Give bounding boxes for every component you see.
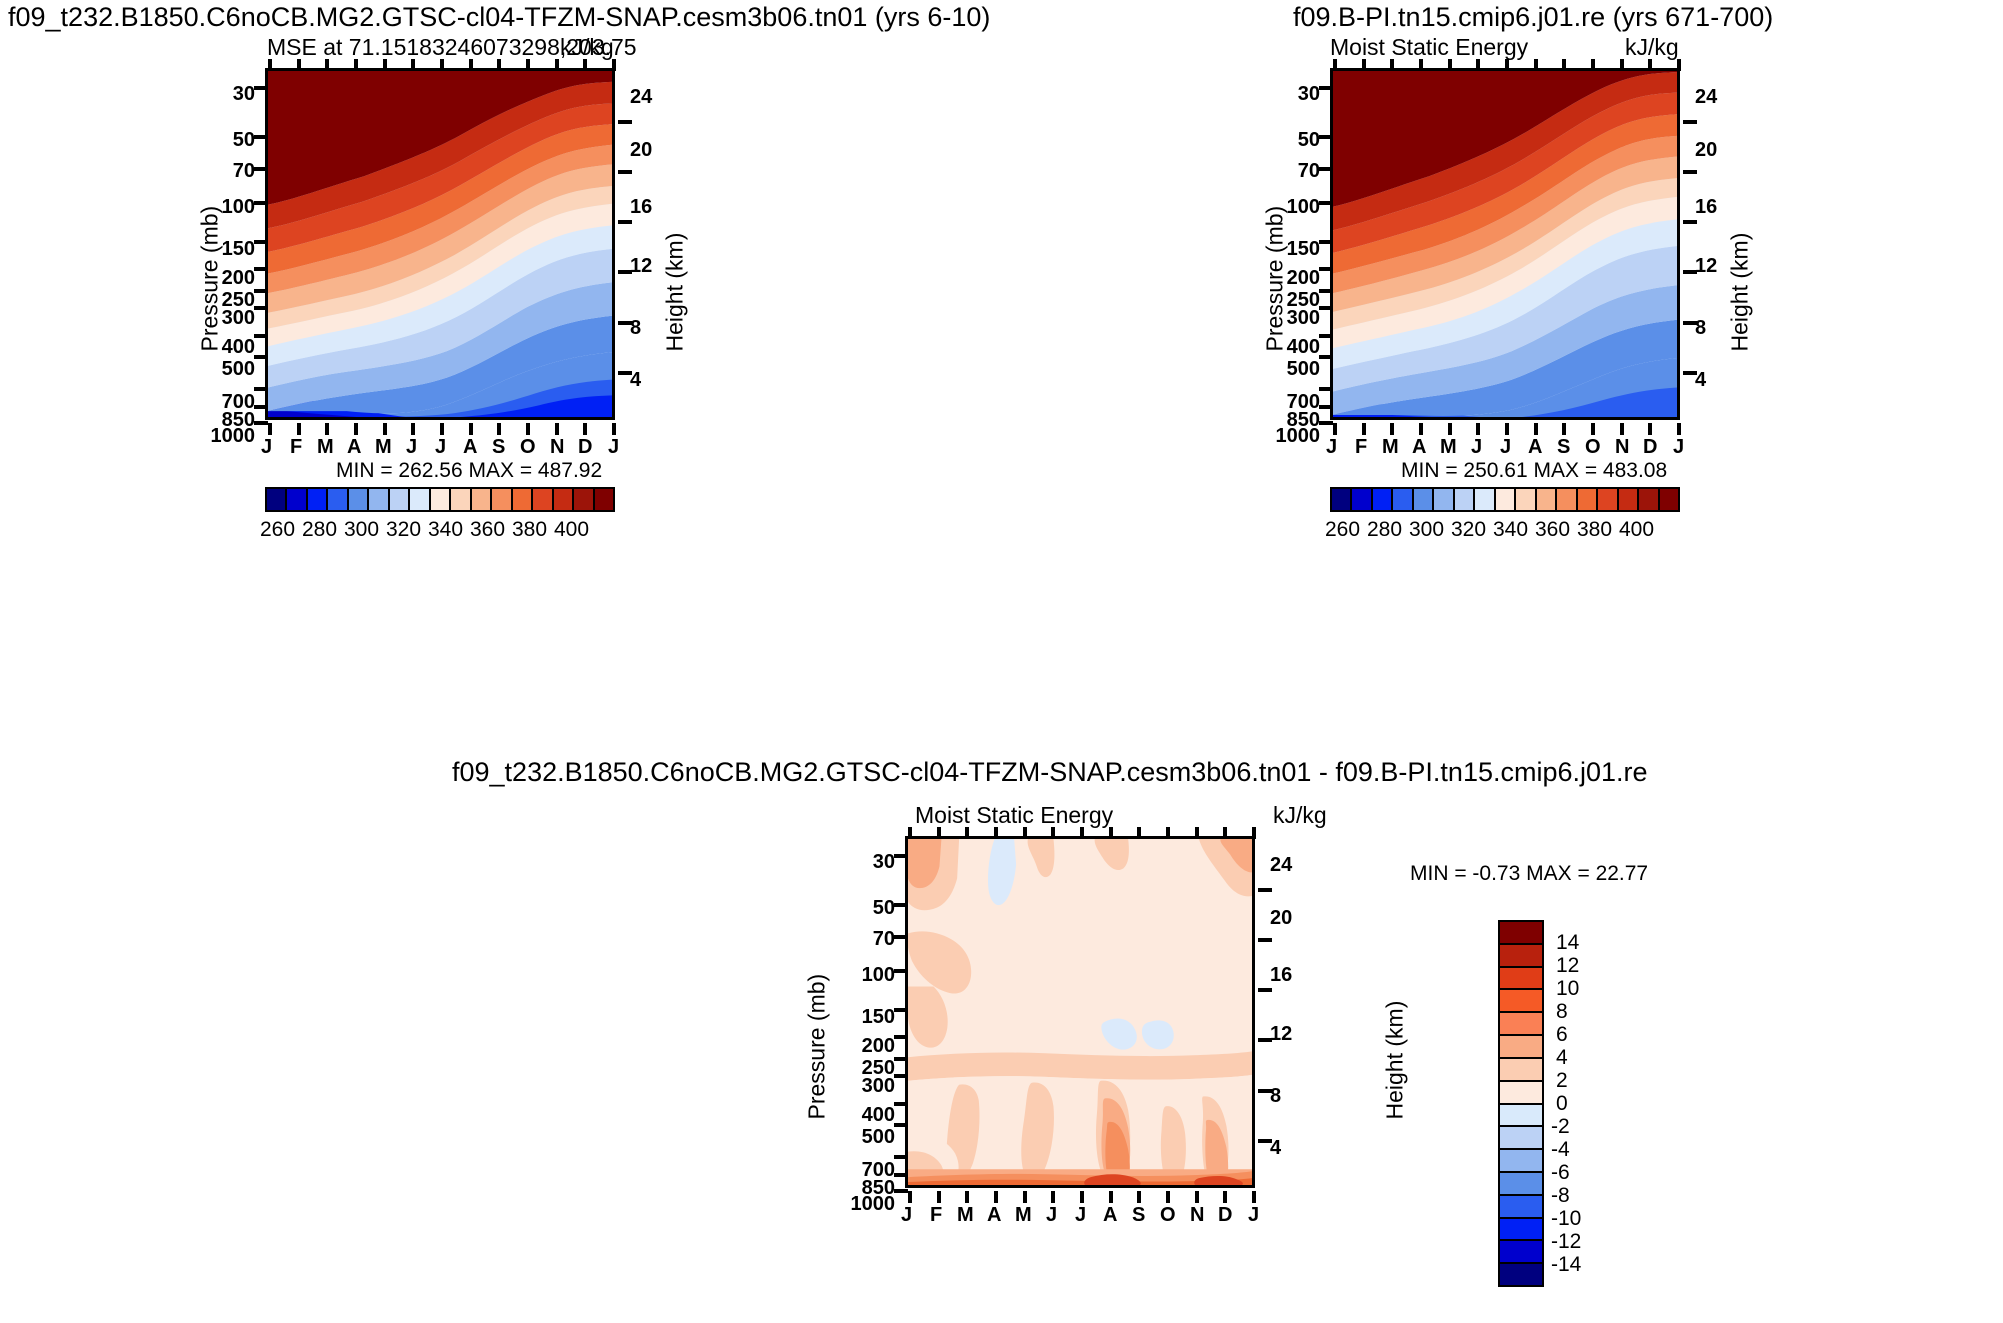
colorbar-swatch [1332, 489, 1352, 510]
axis-tick-top [1080, 827, 1084, 839]
axis-tick-bottom [1562, 423, 1566, 435]
right-panel-y2tick-12: 12 [1695, 255, 1717, 278]
right-panel-ytick-400: 400 [1265, 336, 1320, 359]
axis-tick-left [1319, 334, 1333, 338]
diff-panel-minmax: MIN = -0.73 MAX = 22.77 [1410, 862, 1648, 886]
axis-tick-bottom [583, 423, 587, 435]
diff-panel-xtick-5: J [1046, 1204, 1057, 1227]
right-panel-y2tick-20: 20 [1695, 139, 1717, 162]
diff-panel-xtick-10: N [1190, 1204, 1204, 1227]
diff-panel-xtick-9: O [1160, 1204, 1176, 1227]
colorbar-swatch [1414, 489, 1434, 510]
axis-tick-bottom [1080, 1191, 1084, 1203]
axis-tick-top [1023, 827, 1027, 839]
right-panel-cbar-label-280: 280 [1367, 518, 1402, 542]
diff-panel-ytick-50: 50 [840, 897, 895, 920]
axis-tick-bottom [555, 423, 559, 435]
left-panel-xtick-8: S [492, 436, 505, 459]
colorbar-swatch [1619, 489, 1639, 510]
axis-tick-bottom [354, 423, 358, 435]
axis-tick-bottom [297, 423, 301, 435]
right-panel-xtick-7: A [1528, 436, 1542, 459]
axis-tick-left [1319, 355, 1333, 359]
right-panel-xtick-5: J [1471, 436, 1482, 459]
left-panel-y2tick-4: 4 [630, 369, 641, 392]
diff-cbar-label-m4: -4 [1551, 1138, 1570, 1162]
axis-tick-top [526, 59, 530, 71]
right-panel-minmax: MIN = 250.61 MAX = 483.08 [1401, 459, 1667, 483]
left-panel-ytick-70: 70 [200, 160, 255, 183]
right-panel-ytick-150: 150 [1265, 238, 1320, 261]
right-panel-units: kJ/kg [1625, 34, 1679, 61]
axis-tick-left [1319, 135, 1333, 139]
right-panel-ytick-1000: 1000 [1255, 425, 1320, 448]
colorbar-swatch [1500, 1059, 1542, 1082]
axis-tick-top [297, 59, 301, 71]
axis-tick-bottom [1166, 1191, 1170, 1203]
diff-panel-xtick-6: J [1075, 1204, 1086, 1227]
axis-tick-bottom [994, 1191, 998, 1203]
axis-tick-top [1677, 59, 1681, 71]
axis-tick-left [1319, 405, 1333, 409]
left-panel-ytick-30: 30 [200, 83, 255, 106]
axis-tick-left [254, 334, 268, 338]
left-panel-xtick-5: J [406, 436, 417, 459]
axis-tick-left [894, 969, 908, 973]
right-panel-xtick-12: J [1673, 436, 1684, 459]
axis-tick-bottom [1023, 1191, 1027, 1203]
diff-cbar-label-m6: -6 [1551, 1161, 1570, 1185]
left-panel-xtick-6: J [435, 436, 446, 459]
axis-tick-right [1683, 220, 1697, 224]
right-panel-cbar-label-260: 260 [1325, 518, 1360, 542]
colorbar-swatch [369, 489, 389, 510]
diff-cbar-label-12: 12 [1556, 954, 1579, 978]
diff-cbar-label-m14: -14 [1551, 1253, 1581, 1277]
right-panel-xtick-8: S [1557, 436, 1570, 459]
colorbar-swatch [533, 489, 553, 510]
axis-tick-left [1319, 201, 1333, 205]
left-panel-cbar-label-400: 400 [554, 518, 589, 542]
colorbar-swatch [431, 489, 451, 510]
axis-tick-left [894, 1057, 908, 1061]
axis-tick-left [894, 1035, 908, 1039]
axis-tick-top [1333, 59, 1337, 71]
colorbar-swatch [1352, 489, 1372, 510]
right-panel-xtick-0: J [1326, 436, 1337, 459]
axis-tick-left [894, 1173, 908, 1177]
axis-tick-bottom [1419, 423, 1423, 435]
left-panel-xtick-1: F [290, 436, 302, 459]
axis-tick-left [254, 201, 268, 205]
left-panel-xtick-10: N [550, 436, 564, 459]
axis-tick-bottom [1390, 423, 1394, 435]
axis-tick-left [894, 1155, 908, 1159]
axis-tick-top [1419, 59, 1423, 71]
colorbar-swatch [1500, 1264, 1542, 1285]
axis-tick-top [1223, 827, 1227, 839]
colorbar-swatch [513, 489, 533, 510]
diff-panel-ytick-200: 200 [840, 1035, 895, 1058]
diff-cbar-label-14: 14 [1556, 931, 1579, 955]
colorbar-swatch [1500, 1127, 1542, 1150]
diff-panel-case-title: f09_t232.B1850.C6noCB.MG2.GTSC-cl04-TFZM… [452, 757, 1648, 788]
right-panel-y2tick-4: 4 [1695, 369, 1706, 392]
axis-tick-top [268, 59, 272, 71]
axis-tick-left [254, 421, 268, 425]
axis-tick-bottom [1448, 423, 1452, 435]
axis-tick-right [618, 120, 632, 124]
axis-tick-top [325, 59, 329, 71]
axis-tick-left [894, 1008, 908, 1012]
axis-tick-top [469, 59, 473, 71]
axis-tick-bottom [411, 423, 415, 435]
axis-tick-top [1166, 827, 1170, 839]
right-panel-y2tick-8: 8 [1695, 317, 1706, 340]
axis-tick-left [254, 240, 268, 244]
left-panel-ytick-200: 200 [200, 267, 255, 290]
axis-tick-left [254, 135, 268, 139]
left-panel-ytick-500: 500 [200, 358, 255, 381]
colorbar-swatch [1598, 489, 1618, 510]
axis-tick-top [994, 827, 998, 839]
right-panel-ytick-50: 50 [1265, 129, 1320, 152]
right-panel-y2tick-16: 16 [1695, 196, 1717, 219]
left-panel-xtick-9: O [520, 436, 536, 459]
axis-tick-left [894, 903, 908, 907]
left-panel-ytick-300: 300 [200, 307, 255, 330]
left-panel-cbar-label-300: 300 [344, 518, 379, 542]
axis-tick-top [1137, 827, 1141, 839]
left-panel-y2tick-16: 16 [630, 196, 652, 219]
axis-tick-bottom [268, 423, 272, 435]
diff-cbar-label-m8: -8 [1551, 1184, 1570, 1208]
left-panel-cbar-label-340: 340 [428, 518, 463, 542]
colorbar-swatch [1639, 489, 1659, 510]
axis-tick-right [1683, 170, 1697, 174]
right-panel-y2-axis-title: Height (km) [1727, 152, 1754, 352]
axis-tick-top [1476, 59, 1480, 71]
left-panel-cbar-label-380: 380 [512, 518, 547, 542]
axis-tick-bottom [908, 1191, 912, 1203]
diff-cbar-label-m10: -10 [1551, 1207, 1581, 1231]
axis-tick-top [1620, 59, 1624, 71]
left-panel-ytick-1000: 1000 [190, 425, 255, 448]
axis-tick-top [354, 59, 358, 71]
colorbar-swatch [1475, 489, 1495, 510]
diff-panel-ytick-100: 100 [840, 964, 895, 987]
axis-tick-top [1051, 827, 1055, 839]
axis-tick-left [894, 1074, 908, 1078]
diff-panel-y2tick-12: 12 [1270, 1023, 1292, 1046]
axis-tick-top [583, 59, 587, 71]
axis-tick-left [254, 167, 268, 171]
right-panel-ytick-200: 200 [1265, 267, 1320, 290]
axis-tick-bottom [1534, 423, 1538, 435]
diff-panel-ytick-30: 30 [840, 851, 895, 874]
diff-panel-y2tick-16: 16 [1270, 964, 1292, 987]
axis-tick-right [1258, 938, 1272, 942]
axis-tick-right [618, 170, 632, 174]
diff-panel-ytick-70: 70 [840, 928, 895, 951]
right-panel-cbar-label-360: 360 [1535, 518, 1570, 542]
colorbar-swatch [1500, 1036, 1542, 1059]
colorbar-swatch [574, 489, 594, 510]
right-panel-ytick-100: 100 [1265, 196, 1320, 219]
diff-panel-y2tick-20: 20 [1270, 907, 1292, 930]
axis-tick-bottom [1195, 1191, 1199, 1203]
axis-tick-left [894, 1123, 908, 1127]
diff-panel-y-axis-title: Pressure (mb) [804, 920, 831, 1120]
left-panel-y2tick-24: 24 [630, 86, 652, 109]
axis-tick-top [1448, 59, 1452, 71]
diff-cbar-label-m2: -2 [1551, 1115, 1570, 1139]
left-panel-minmax: MIN = 262.56 MAX = 487.92 [336, 459, 602, 483]
axis-tick-bottom [1505, 423, 1509, 435]
axis-tick-top [1534, 59, 1538, 71]
axis-tick-bottom [1109, 1191, 1113, 1203]
axis-tick-top [497, 59, 501, 71]
right-panel-cbar-label-400: 400 [1619, 518, 1654, 542]
colorbar-swatch [1537, 489, 1557, 510]
axis-tick-bottom [1223, 1191, 1227, 1203]
diff-panel-ytick-500: 500 [840, 1126, 895, 1149]
left-panel-units: kJ/kg [560, 34, 614, 61]
axis-tick-top [1362, 59, 1366, 71]
axis-tick-left [1319, 421, 1333, 425]
axis-tick-top [1562, 59, 1566, 71]
axis-tick-top [965, 827, 969, 839]
left-panel-ytick-50: 50 [200, 129, 255, 152]
colorbar-swatch [1500, 1105, 1542, 1128]
colorbar-swatch [1500, 990, 1542, 1013]
axis-tick-left [894, 1102, 908, 1106]
right-panel-ytick-500: 500 [1265, 358, 1320, 381]
right-panel-xtick-11: D [1643, 436, 1657, 459]
axis-tick-left [254, 387, 268, 391]
colorbar-swatch [1500, 1082, 1542, 1105]
left-panel-ytick-400: 400 [200, 336, 255, 359]
axis-tick-left [894, 854, 908, 858]
left-panel-xtick-7: A [463, 436, 477, 459]
axis-tick-top [383, 59, 387, 71]
axis-tick-top [937, 827, 941, 839]
axis-tick-left [894, 935, 908, 939]
colorbar-swatch [1500, 1150, 1542, 1173]
diff-panel-xtick-2: M [957, 1204, 974, 1227]
axis-tick-left [1319, 387, 1333, 391]
diff-cbar-label-8: 8 [1556, 1000, 1568, 1024]
axis-tick-bottom [1051, 1191, 1055, 1203]
axis-tick-top [411, 59, 415, 71]
colorbar-swatch [328, 489, 348, 510]
right-panel-xtick-2: M [1382, 436, 1399, 459]
colorbar-swatch [308, 489, 328, 510]
axis-tick-bottom [497, 423, 501, 435]
right-panel-subtitle: Moist Static Energy [1330, 34, 1528, 61]
diff-panel-y2tick-8: 8 [1270, 1085, 1281, 1108]
right-panel-cbar-label-300: 300 [1409, 518, 1444, 542]
colorbar-swatch [287, 489, 307, 510]
right-panel-plot-area [1330, 68, 1680, 420]
right-panel-colorbar [1330, 487, 1680, 512]
colorbar-swatch [1500, 945, 1542, 968]
diff-panel-y2-axis-title: Height (km) [1382, 920, 1409, 1120]
colorbar-swatch [1516, 489, 1536, 510]
left-panel-cbar-label-280: 280 [302, 518, 337, 542]
colorbar-swatch [1500, 1013, 1542, 1036]
colorbar-swatch [1500, 1219, 1542, 1242]
diff-panel-xtick-0: J [901, 1204, 912, 1227]
axis-tick-bottom [325, 423, 329, 435]
right-panel-case-title: f09.B-PI.tn15.cmip6.j01.re (yrs 671-700) [1293, 2, 1773, 33]
diff-panel-ytick-400: 400 [840, 1104, 895, 1127]
right-panel-xtick-9: O [1585, 436, 1601, 459]
diff-panel-xtick-1: F [930, 1204, 942, 1227]
left-panel-xtick-2: M [317, 436, 334, 459]
colorbar-swatch [1373, 489, 1393, 510]
axis-tick-top [1591, 59, 1595, 71]
axis-tick-bottom [1648, 423, 1652, 435]
right-panel-cbar-label-380: 380 [1577, 518, 1612, 542]
colorbar-swatch [1500, 1196, 1542, 1219]
colorbar-swatch [554, 489, 574, 510]
left-panel-y2tick-12: 12 [630, 255, 652, 278]
axis-tick-right [1683, 120, 1697, 124]
colorbar-swatch [1660, 489, 1678, 510]
axis-tick-left [254, 355, 268, 359]
diff-panel-colorbar [1498, 920, 1544, 1287]
diff-panel-y2tick-24: 24 [1270, 854, 1292, 877]
left-panel-cbar-label-320: 320 [386, 518, 421, 542]
right-panel-ytick-300: 300 [1265, 307, 1320, 330]
axis-tick-left [1319, 267, 1333, 271]
diff-panel-y2tick-4: 4 [1270, 1137, 1281, 1160]
colorbar-swatch [1500, 968, 1542, 991]
right-panel-ytick-30: 30 [1265, 83, 1320, 106]
colorbar-swatch [1393, 489, 1413, 510]
colorbar-swatch [1455, 489, 1475, 510]
left-panel-colorbar [265, 487, 615, 512]
axis-tick-top [1109, 827, 1113, 839]
axis-tick-bottom [383, 423, 387, 435]
axis-tick-bottom [937, 1191, 941, 1203]
left-panel-ytick-150: 150 [200, 238, 255, 261]
colorbar-swatch [1500, 1173, 1542, 1196]
axis-tick-bottom [1333, 423, 1337, 435]
diff-cbar-label-10: 10 [1556, 977, 1579, 1001]
axis-tick-left [254, 289, 268, 293]
diff-panel-plot-area [905, 836, 1255, 1188]
left-panel-y2tick-20: 20 [630, 139, 652, 162]
axis-tick-bottom [1476, 423, 1480, 435]
diff-panel-xtick-4: M [1015, 1204, 1032, 1227]
axis-tick-top [1390, 59, 1394, 71]
diff-panel-subtitle: Moist Static Energy [915, 802, 1113, 829]
right-panel-xtick-1: F [1355, 436, 1367, 459]
axis-tick-top [1195, 827, 1199, 839]
axis-tick-left [254, 86, 268, 90]
axis-tick-left [1319, 306, 1333, 310]
axis-tick-left [1319, 240, 1333, 244]
axis-tick-left [894, 1189, 908, 1193]
colorbar-swatch [492, 489, 512, 510]
axis-tick-bottom [1252, 1191, 1256, 1203]
left-panel-xtick-3: A [347, 436, 361, 459]
left-panel-plot-area [265, 68, 615, 420]
right-panel-xtick-10: N [1615, 436, 1629, 459]
left-panel-xtick-11: D [578, 436, 592, 459]
colorbar-swatch [267, 489, 287, 510]
colorbar-swatch [1500, 1241, 1542, 1264]
axis-tick-right [618, 220, 632, 224]
diff-panel-xtick-12: J [1248, 1204, 1259, 1227]
axis-tick-left [254, 306, 268, 310]
axis-tick-left [254, 267, 268, 271]
diff-cbar-label-m12: -12 [1551, 1230, 1581, 1254]
left-panel-cbar-label-360: 360 [470, 518, 505, 542]
colorbar-swatch [1557, 489, 1577, 510]
diff-panel-xtick-3: A [987, 1204, 1001, 1227]
axis-tick-left [254, 405, 268, 409]
axis-tick-bottom [1137, 1191, 1141, 1203]
axis-tick-bottom [526, 423, 530, 435]
left-panel-cbar-label-260: 260 [260, 518, 295, 542]
right-panel-xtick-6: J [1500, 436, 1511, 459]
right-panel-cbar-label-340: 340 [1493, 518, 1528, 542]
axis-tick-top [1252, 827, 1256, 839]
axis-tick-bottom [440, 423, 444, 435]
left-panel-case-title: f09_t232.B1850.C6noCB.MG2.GTSC-cl04-TFZM… [8, 2, 990, 33]
axis-tick-left [1319, 289, 1333, 293]
axis-tick-top [1648, 59, 1652, 71]
diff-panel-ytick-1000: 1000 [830, 1193, 895, 1216]
axis-tick-top [612, 59, 616, 71]
colorbar-swatch [390, 489, 410, 510]
diff-panel-ytick-300: 300 [840, 1075, 895, 1098]
axis-tick-bottom [965, 1191, 969, 1203]
right-panel-y2tick-24: 24 [1695, 86, 1717, 109]
colorbar-swatch [451, 489, 471, 510]
colorbar-swatch [1496, 489, 1516, 510]
left-panel-ytick-100: 100 [200, 196, 255, 219]
axis-tick-bottom [1620, 423, 1624, 435]
left-panel-xtick-0: J [261, 436, 272, 459]
left-panel-xtick-4: M [375, 436, 392, 459]
axis-tick-right [1258, 988, 1272, 992]
axis-tick-right [1258, 888, 1272, 892]
colorbar-swatch [1434, 489, 1454, 510]
diff-cbar-label-2: 2 [1556, 1069, 1568, 1093]
axis-tick-top [1505, 59, 1509, 71]
diff-cbar-label-6: 6 [1556, 1023, 1568, 1047]
diff-panel-xtick-11: D [1218, 1204, 1232, 1227]
colorbar-swatch [595, 489, 613, 510]
diff-cbar-label-0: 0 [1556, 1092, 1568, 1116]
axis-tick-top [555, 59, 559, 71]
colorbar-swatch [349, 489, 369, 510]
axis-tick-bottom [1591, 423, 1595, 435]
right-panel-xtick-4: M [1440, 436, 1457, 459]
left-panel-y2-axis-title: Height (km) [662, 152, 689, 352]
diff-cbar-label-4: 4 [1556, 1046, 1568, 1070]
axis-tick-bottom [612, 423, 616, 435]
axis-tick-top [908, 827, 912, 839]
colorbar-swatch [472, 489, 492, 510]
axis-tick-bottom [469, 423, 473, 435]
axis-tick-left [1319, 167, 1333, 171]
right-panel-xtick-3: A [1412, 436, 1426, 459]
